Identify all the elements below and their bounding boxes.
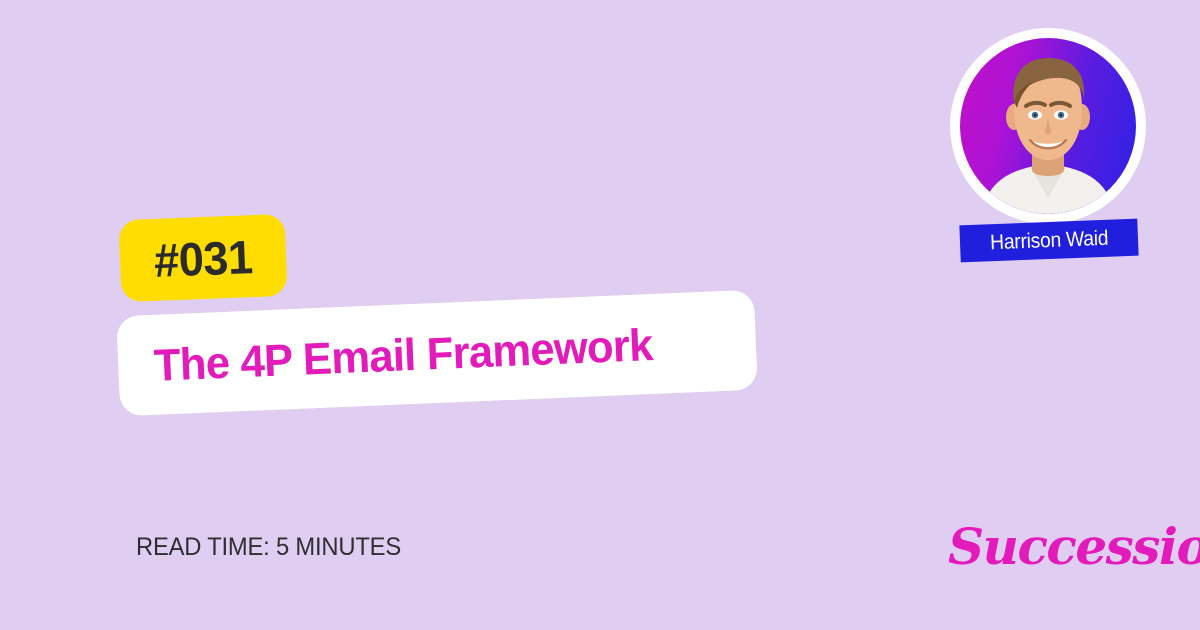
author-block: Harrison Waid bbox=[940, 22, 1155, 272]
issue-number-badge: #031 bbox=[118, 214, 287, 302]
avatar-ring bbox=[950, 28, 1146, 224]
author-name-tag: Harrison Waid bbox=[959, 219, 1138, 263]
read-time-label: READ TIME: 5 MINUTES bbox=[136, 533, 401, 562]
page-title: The 4P Email Framework bbox=[153, 321, 653, 387]
brand-logo: Succession bbox=[948, 522, 1200, 572]
title-card: The 4P Email Framework bbox=[116, 290, 758, 417]
avatar bbox=[960, 38, 1136, 214]
issue-number-label: #031 bbox=[153, 233, 253, 284]
author-name-label: Harrison Waid bbox=[990, 226, 1109, 255]
newsletter-cover-card: #031 The 4P Email Framework READ TIME: 5… bbox=[0, 0, 1200, 630]
